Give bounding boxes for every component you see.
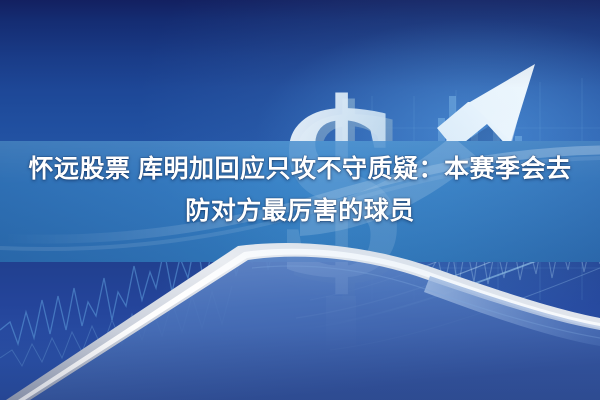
headline-line-2: 防对方最厉害的球员 xyxy=(0,190,600,232)
banner-image: $ $ xyxy=(0,0,600,400)
headline-text: 怀远股票 库明加回应只攻不守质疑：本赛季会去 防对方最厉害的球员 xyxy=(0,148,600,232)
headline-line-1: 怀远股票 库明加回应只攻不守质疑：本赛季会去 xyxy=(29,155,572,183)
